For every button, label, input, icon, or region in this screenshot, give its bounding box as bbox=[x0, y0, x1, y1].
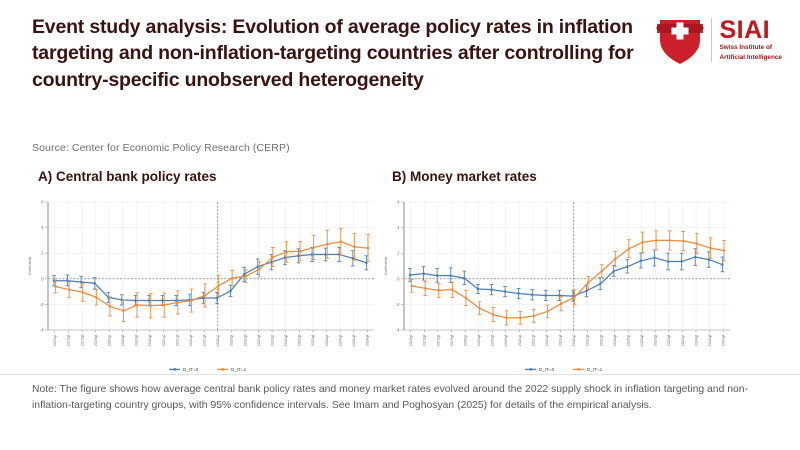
data-point-marker bbox=[82, 291, 84, 293]
data-point-marker bbox=[148, 299, 150, 301]
data-point-marker bbox=[655, 239, 657, 241]
data-point-marker bbox=[463, 277, 465, 279]
x-tick-label: 2024q1 bbox=[325, 334, 329, 346]
data-point-marker bbox=[721, 264, 723, 266]
x-tick-label: 2023q4 bbox=[311, 334, 315, 346]
data-point-marker bbox=[258, 268, 260, 270]
data-point-marker bbox=[190, 299, 192, 301]
data-point-marker bbox=[136, 304, 138, 306]
data-point-marker bbox=[175, 299, 177, 301]
x-tick-label: 2024q3 bbox=[708, 334, 712, 346]
data-point-marker bbox=[162, 299, 164, 301]
x-tick-label: 2022q4 bbox=[613, 334, 617, 346]
chart-svg: -4-202462019q12019q22019q32019q42020q120… bbox=[378, 196, 738, 376]
legend-label: D_IT=1 bbox=[231, 367, 247, 372]
panel-b-title: B) Money market rates bbox=[392, 169, 537, 184]
data-point-marker bbox=[367, 247, 369, 249]
data-point-marker bbox=[669, 239, 671, 241]
y-tick-label: -2 bbox=[40, 302, 44, 307]
data-point-marker bbox=[95, 296, 97, 298]
data-point-marker bbox=[80, 281, 82, 283]
x-tick-label: 2022q1 bbox=[572, 334, 576, 346]
x-tick-label: 2021q2 bbox=[175, 334, 179, 346]
figure-note: Note: The figure shows how average centr… bbox=[32, 382, 774, 414]
data-point-marker bbox=[546, 310, 548, 312]
legend-marker bbox=[530, 368, 532, 370]
x-tick-label: 2021q1 bbox=[518, 334, 522, 346]
x-tick-label: 2021q4 bbox=[559, 334, 563, 346]
x-tick-label: 2024q4 bbox=[366, 334, 370, 346]
x-tick-label: 2019q2 bbox=[67, 334, 71, 346]
data-point-marker bbox=[340, 241, 342, 243]
data-point-marker bbox=[573, 296, 575, 298]
legend-label: D_IT=0 bbox=[539, 367, 555, 372]
x-tick-label: 2022q3 bbox=[243, 334, 247, 346]
data-point-marker bbox=[587, 282, 589, 284]
data-point-marker bbox=[353, 246, 355, 248]
x-tick-label: 2024q1 bbox=[681, 334, 685, 346]
x-tick-label: 2022q3 bbox=[599, 334, 603, 346]
x-tick-label: 2020q2 bbox=[121, 334, 125, 346]
x-tick-label: 2023q3 bbox=[298, 334, 302, 346]
data-point-marker bbox=[272, 256, 274, 258]
y-tick-label: 4 bbox=[41, 225, 44, 230]
data-point-marker bbox=[326, 243, 328, 245]
data-point-marker bbox=[257, 266, 259, 268]
data-point-marker bbox=[163, 304, 165, 306]
y-tick-label: -2 bbox=[396, 302, 400, 307]
y-tick-label: 6 bbox=[397, 200, 400, 205]
data-point-marker bbox=[478, 307, 480, 309]
data-point-marker bbox=[708, 259, 710, 261]
y-tick-label: 0 bbox=[397, 276, 400, 281]
logo-wordmark: SIAI bbox=[719, 18, 782, 42]
x-tick-label: 2022q2 bbox=[586, 334, 590, 346]
x-tick-label: 2019q3 bbox=[80, 334, 84, 346]
data-point-marker bbox=[285, 251, 287, 253]
data-point-marker bbox=[519, 317, 521, 319]
data-point-marker bbox=[229, 290, 231, 292]
data-point-marker bbox=[410, 285, 412, 287]
data-point-marker bbox=[217, 285, 219, 287]
data-point-marker bbox=[682, 240, 684, 242]
data-point-marker bbox=[243, 273, 245, 275]
data-point-marker bbox=[614, 258, 616, 260]
data-point-marker bbox=[531, 294, 533, 296]
data-point-marker bbox=[150, 305, 152, 307]
chart-svg: -4-202462019q12019q22019q32019q42020q120… bbox=[22, 196, 382, 376]
y-tick-label: -4 bbox=[396, 328, 400, 333]
x-tick-label: 2019q3 bbox=[436, 334, 440, 346]
chart-panel-b: -4-202462019q12019q22019q32019q42020q120… bbox=[378, 196, 738, 376]
legend-entry[interactable]: D_IT=1 bbox=[573, 367, 603, 372]
data-point-marker bbox=[585, 290, 587, 292]
data-point-marker bbox=[560, 303, 562, 305]
x-tick-label: 2023q3 bbox=[654, 334, 658, 346]
x-tick-label: 2021q3 bbox=[545, 334, 549, 346]
data-point-marker bbox=[504, 291, 506, 293]
logo-wordmark-group: SIAI Swiss Institute of Artificial Intel… bbox=[719, 18, 782, 62]
logo-subtitle-line1: Swiss Institute of bbox=[719, 44, 782, 52]
data-point-marker bbox=[68, 289, 70, 291]
svg-text:INSTITUTE: INSTITUTE bbox=[674, 32, 686, 34]
data-point-marker bbox=[54, 285, 56, 287]
legend-marker bbox=[222, 368, 224, 370]
chart-panel-a: -4-202462019q12019q22019q32019q42020q120… bbox=[22, 196, 382, 376]
x-tick-label: 2020q2 bbox=[477, 334, 481, 346]
data-point-marker bbox=[490, 289, 492, 291]
x-tick-label: 2020q3 bbox=[491, 334, 495, 346]
data-point-marker bbox=[477, 288, 479, 290]
data-point-marker bbox=[311, 253, 313, 255]
legend-marker bbox=[174, 368, 176, 370]
x-tick-label: 2023q2 bbox=[640, 334, 644, 346]
panel-a-title: A) Central bank policy rates bbox=[38, 169, 217, 184]
data-point-marker bbox=[245, 275, 247, 277]
x-tick-label: 2024q2 bbox=[694, 334, 698, 346]
x-tick-label: 2024q4 bbox=[722, 334, 726, 346]
data-point-marker bbox=[352, 257, 354, 259]
data-point-marker bbox=[313, 246, 315, 248]
y-tick-label: 2 bbox=[41, 251, 44, 256]
data-point-marker bbox=[533, 315, 535, 317]
logo-divider bbox=[711, 18, 713, 62]
data-point-marker bbox=[599, 283, 601, 285]
data-point-marker bbox=[94, 282, 96, 284]
legend-marker bbox=[578, 368, 580, 370]
data-point-marker bbox=[66, 280, 68, 282]
y-tick-label: 2 bbox=[397, 251, 400, 256]
legend-label: D_IT=0 bbox=[183, 367, 199, 372]
x-tick-label: 2023q4 bbox=[667, 334, 671, 346]
data-point-marker bbox=[299, 250, 301, 252]
x-tick-label: 2020q1 bbox=[107, 334, 111, 346]
footer-divider bbox=[0, 374, 800, 375]
x-tick-label: 2019q1 bbox=[53, 334, 57, 346]
page-title: Event study analysis: Evolution of avera… bbox=[32, 14, 662, 93]
x-tick-label: 2022q4 bbox=[257, 334, 261, 346]
data-point-marker bbox=[436, 275, 438, 277]
data-point-marker bbox=[409, 274, 411, 276]
data-point-marker bbox=[122, 310, 124, 312]
data-point-marker bbox=[653, 257, 655, 259]
data-point-marker bbox=[424, 287, 426, 289]
x-tick-label: 2019q4 bbox=[94, 334, 98, 346]
siai-logo: SWISS INSTITUTE SIAI Swiss Institute of … bbox=[656, 12, 782, 68]
data-point-marker bbox=[134, 299, 136, 301]
y-tick-label: 0 bbox=[41, 276, 44, 281]
data-point-marker bbox=[640, 260, 642, 262]
logo-subtitle-line2: Artificial Intelligence bbox=[719, 54, 782, 62]
x-tick-label: 2022q2 bbox=[230, 334, 234, 346]
legend-entry[interactable]: D_IT=0 bbox=[525, 367, 555, 372]
data-point-marker bbox=[109, 305, 111, 307]
x-tick-label: 2019q4 bbox=[450, 334, 454, 346]
legend-entry[interactable]: D_IT=0 bbox=[169, 367, 199, 372]
data-point-marker bbox=[438, 289, 440, 291]
y-axis-title: Coefficients bbox=[28, 256, 32, 275]
data-point-marker bbox=[558, 294, 560, 296]
data-point-marker bbox=[601, 270, 603, 272]
data-point-marker bbox=[667, 260, 669, 262]
data-point-marker bbox=[613, 270, 615, 272]
x-tick-label: 2024q2 bbox=[338, 334, 342, 346]
x-tick-label: 2021q1 bbox=[162, 334, 166, 346]
x-tick-label: 2020q4 bbox=[148, 334, 152, 346]
data-point-marker bbox=[325, 253, 327, 255]
y-tick-label: 4 bbox=[397, 225, 400, 230]
data-point-marker bbox=[626, 266, 628, 268]
data-point-marker bbox=[284, 257, 286, 259]
legend-entry[interactable]: D_IT=1 bbox=[217, 367, 247, 372]
legend-label: D_IT=1 bbox=[587, 367, 603, 372]
data-point-marker bbox=[492, 314, 494, 316]
svg-text:SWISS: SWISS bbox=[676, 29, 684, 31]
x-tick-label: 2020q3 bbox=[135, 334, 139, 346]
data-point-marker bbox=[694, 256, 696, 258]
data-point-marker bbox=[723, 250, 725, 252]
x-tick-label: 2022q1 bbox=[216, 334, 220, 346]
data-point-marker bbox=[518, 292, 520, 294]
x-tick-label: 2021q2 bbox=[531, 334, 535, 346]
x-tick-label: 2020q1 bbox=[463, 334, 467, 346]
data-point-marker bbox=[451, 289, 453, 291]
x-tick-label: 2019q1 bbox=[409, 334, 413, 346]
data-point-marker bbox=[365, 262, 367, 264]
x-tick-label: 2021q3 bbox=[189, 334, 193, 346]
y-axis-title: Coefficients bbox=[384, 256, 388, 275]
x-tick-label: 2021q4 bbox=[203, 334, 207, 346]
slide-root: Event study analysis: Evolution of avera… bbox=[0, 0, 800, 450]
data-point-marker bbox=[216, 297, 218, 299]
data-point-marker bbox=[297, 255, 299, 257]
x-tick-label: 2023q1 bbox=[626, 334, 630, 346]
data-point-marker bbox=[202, 297, 204, 299]
data-point-marker bbox=[696, 243, 698, 245]
x-tick-label: 2023q2 bbox=[284, 334, 288, 346]
data-point-marker bbox=[270, 261, 272, 263]
data-point-marker bbox=[204, 294, 206, 296]
data-point-marker bbox=[465, 297, 467, 299]
data-point-marker bbox=[709, 247, 711, 249]
swiss-shield-icon: SWISS INSTITUTE bbox=[656, 14, 704, 66]
data-point-marker bbox=[641, 241, 643, 243]
source-line: Source: Center for Economic Policy Resea… bbox=[32, 142, 290, 154]
y-tick-label: 6 bbox=[41, 200, 44, 205]
x-tick-label: 2019q2 bbox=[423, 334, 427, 346]
x-tick-label: 2023q1 bbox=[270, 334, 274, 346]
data-point-marker bbox=[450, 275, 452, 277]
data-point-marker bbox=[506, 317, 508, 319]
data-point-marker bbox=[628, 248, 630, 250]
data-point-marker bbox=[545, 294, 547, 296]
y-tick-label: -4 bbox=[40, 328, 44, 333]
x-tick-label: 2024q3 bbox=[352, 334, 356, 346]
data-point-marker bbox=[422, 273, 424, 275]
data-point-marker bbox=[177, 301, 179, 303]
data-point-marker bbox=[231, 277, 233, 279]
x-tick-label: 2020q4 bbox=[504, 334, 508, 346]
data-point-marker bbox=[681, 260, 683, 262]
